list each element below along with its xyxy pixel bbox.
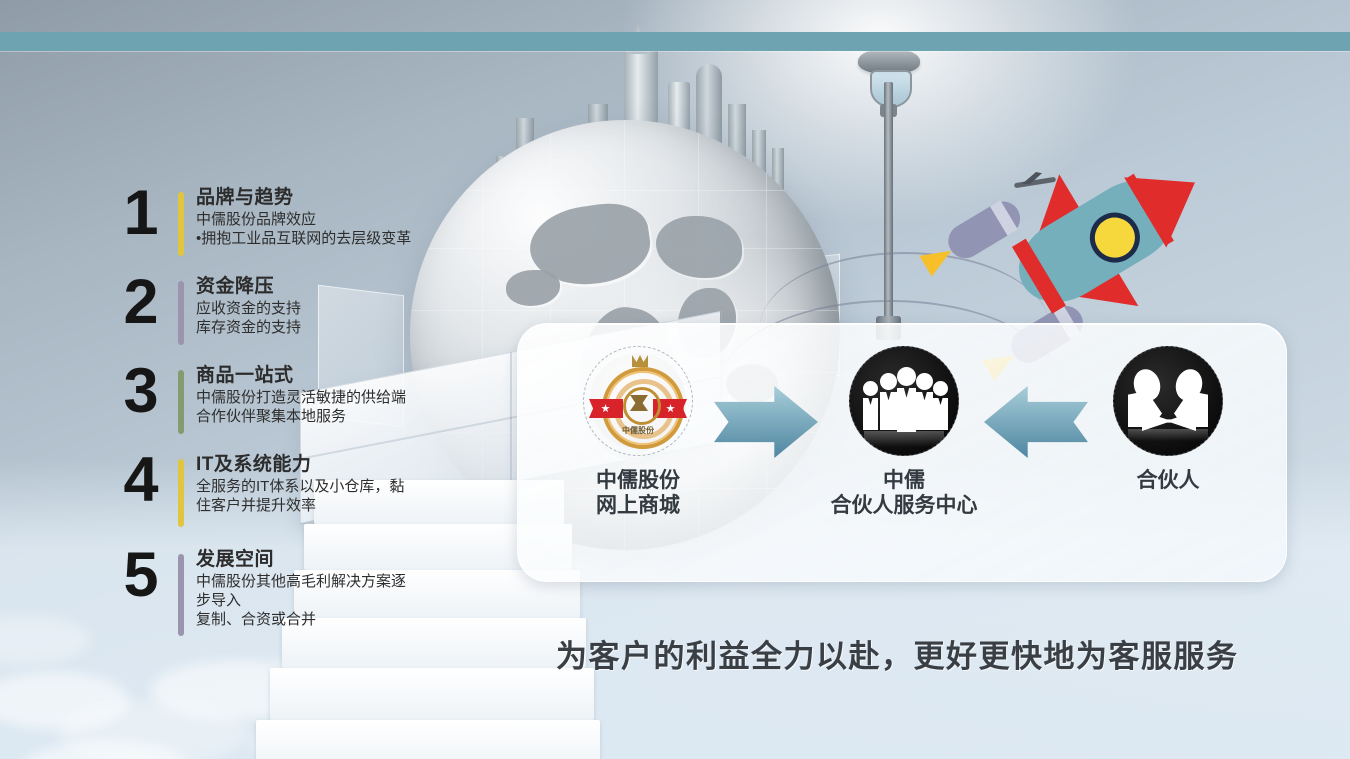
item-description: 中儒股份品牌效应 •拥抱工业品互联网的去层级变革 bbox=[196, 210, 496, 248]
handshake-icon bbox=[1113, 346, 1223, 456]
item-description: 全服务的IT体系以及小仓库，黏 住客户并提升效率 bbox=[196, 477, 496, 515]
list-item[interactable]: 3 商品一站式 中儒股份打造灵活敏捷的供给端 合作伙伴聚集本地服务 bbox=[118, 364, 498, 442]
top-accent-bar bbox=[0, 32, 1350, 51]
flow-node-partner[interactable]: 合伙人 bbox=[1078, 346, 1258, 493]
company-logo-medallion-icon: 中儒股份 bbox=[583, 346, 693, 456]
item-accent-bar bbox=[178, 554, 184, 636]
benefits-list: 1 品牌与趋势 中儒股份品牌效应 •拥抱工业品互联网的去层级变革 2 资金降压 … bbox=[118, 186, 498, 655]
flow-node-online-mall[interactable]: 中儒股份 中儒股份 网上商城 bbox=[548, 346, 728, 518]
partner-flow-panel: 中儒股份 中儒股份 网上商城 中儒 合伙人服务中心 bbox=[517, 323, 1287, 582]
item-accent-bar bbox=[178, 370, 184, 434]
arrow-right-icon bbox=[714, 386, 818, 458]
flow-node-label: 中儒股份 网上商城 bbox=[548, 468, 728, 518]
flow-node-label: 中儒 合伙人服务中心 bbox=[814, 468, 994, 518]
presentation-slide: 1 品牌与趋势 中儒股份品牌效应 •拥抱工业品互联网的去层级变革 2 资金降压 … bbox=[0, 0, 1350, 759]
arrow-left-icon bbox=[984, 386, 1088, 458]
item-title: IT及系统能力 bbox=[196, 453, 496, 477]
item-number: 4 bbox=[118, 451, 164, 511]
item-accent-bar bbox=[178, 281, 184, 345]
item-description: 中儒股份打造灵活敏捷的供给端 合作伙伴聚集本地服务 bbox=[196, 388, 496, 426]
list-item[interactable]: 4 IT及系统能力 全服务的IT体系以及小仓库，黏 住客户并提升效率 bbox=[118, 453, 498, 537]
item-accent-bar bbox=[178, 459, 184, 527]
people-group-icon bbox=[849, 346, 959, 456]
item-title: 资金降压 bbox=[196, 275, 496, 299]
flow-node-label: 合伙人 bbox=[1078, 468, 1258, 493]
medallion-text: 中儒股份 bbox=[590, 425, 686, 436]
item-description: 应收资金的支持 库存资金的支持 bbox=[196, 299, 496, 337]
item-description: 中儒股份其他高毛利解决方案逐 步导入 复制、合资或合并 bbox=[196, 572, 496, 630]
flow-node-partner-service-center[interactable]: 中儒 合伙人服务中心 bbox=[814, 346, 994, 518]
item-title: 发展空间 bbox=[196, 548, 496, 572]
item-number: 2 bbox=[118, 273, 164, 333]
item-accent-bar bbox=[178, 192, 184, 256]
list-item[interactable]: 1 品牌与趋势 中儒股份品牌效应 •拥抱工业品互联网的去层级变革 bbox=[118, 186, 498, 264]
item-number: 3 bbox=[118, 362, 164, 422]
list-item[interactable]: 2 资金降压 应收资金的支持 库存资金的支持 bbox=[118, 275, 498, 353]
item-number: 1 bbox=[118, 184, 164, 244]
item-number: 5 bbox=[118, 546, 164, 606]
list-item[interactable]: 5 发展空间 中儒股份其他高毛利解决方案逐 步导入 复制、合资或合并 bbox=[118, 548, 498, 644]
item-title: 品牌与趋势 bbox=[196, 186, 496, 210]
item-title: 商品一站式 bbox=[196, 364, 496, 388]
slogan-text: 为客户的利益全力以赴，更好更快地为客服服务 bbox=[556, 631, 1239, 676]
